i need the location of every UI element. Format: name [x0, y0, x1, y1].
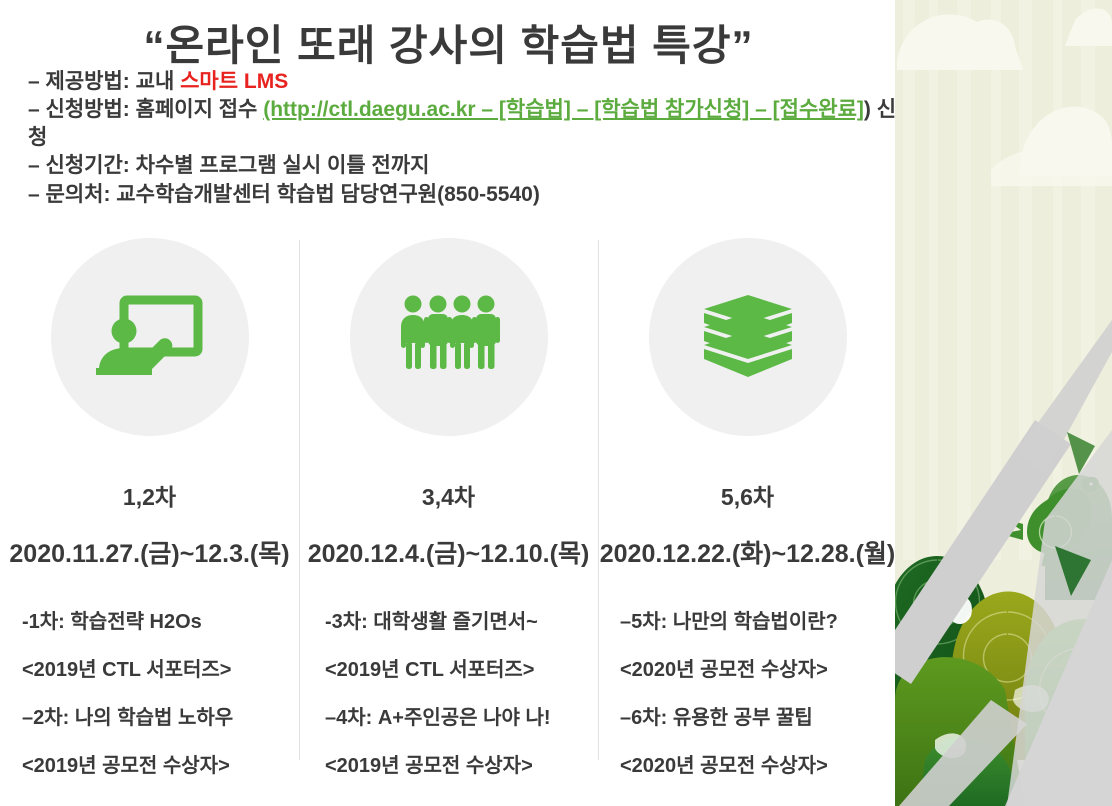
session-column-2: 3,4차 2020.12.4.(금)~12.10.(목) -3차: 대학생활 즐…: [299, 232, 598, 777]
session-title-1: 1,2차: [123, 478, 176, 512]
session-items-2: -3차: 대학생활 즐기면서~ <2019년 CTL 서포터즈> –4차: A+…: [299, 612, 598, 776]
artwork-svg: [895, 0, 1112, 806]
session-item: <2020년 공모전 수상자>: [620, 660, 897, 680]
session-date-1: 2020.11.27.(금)~12.3.(목): [9, 534, 289, 570]
icon-circle-3: [649, 238, 847, 436]
session-column-3: 5,6차 2020.12.22.(화)~12.28.(월) –5차: 나만의 학…: [598, 232, 897, 777]
session-item: -3차: 대학생활 즐기면서~: [325, 612, 598, 632]
page-title: “온라인 또래 강사의 학습법 특강”: [0, 12, 897, 73]
session-date-2: 2020.12.4.(금)~12.10.(목): [308, 534, 590, 570]
session-item: –5차: 나만의 학습법이란?: [620, 612, 897, 632]
info-line-period: – 신청기간: 차수별 프로그램 실시 이틀 전까지: [28, 152, 908, 180]
session-date-3: 2020.12.22.(화)~12.28.(월): [600, 534, 895, 570]
nature-bird-bushes-illustration: [895, 0, 1112, 806]
session-item: –4차: A+주인공은 나야 나!: [325, 708, 598, 728]
application-url-link[interactable]: (http://ctl.daegu.ac.kr – [학습법] – [학습법 참…: [263, 98, 864, 121]
info-method-highlight: 스마트 LMS: [180, 70, 288, 93]
session-item: <2019년 공모전 수상자>: [325, 756, 598, 776]
session-item: <2019년 CTL 서포터즈>: [22, 660, 299, 680]
teacher-presentation-icon: [96, 294, 204, 380]
group-of-people-icon: [396, 295, 502, 379]
session-columns: 1,2차 2020.11.27.(금)~12.3.(목) -1차: 학습전략 H…: [0, 232, 897, 777]
icon-circle-1: [51, 238, 249, 436]
info-apply-label: – 신청방법: 홈페이지 접수: [28, 98, 263, 121]
info-line-method: – 제공방법: 교내 스마트 LMS: [28, 68, 908, 96]
session-items-3: –5차: 나만의 학습법이란? <2020년 공모전 수상자> –6차: 유용한…: [598, 612, 897, 776]
session-column-1: 1,2차 2020.11.27.(금)~12.3.(목) -1차: 학습전략 H…: [0, 232, 299, 777]
session-item: <2019년 CTL 서포터즈>: [325, 660, 598, 680]
info-method-label: – 제공방법: 교내: [28, 70, 180, 93]
info-line-contact: – 문의처: 교수학습개발센터 학습법 담당연구원(850-5540): [28, 181, 908, 209]
info-block: – 제공방법: 교내 스마트 LMS – 신청방법: 홈페이지 접수 (http…: [28, 68, 908, 209]
session-title-3: 5,6차: [721, 478, 774, 512]
info-contact-text: – 문의처: 교수학습개발센터 학습법 담당연구원(850-5540): [28, 183, 540, 206]
info-period-text: – 신청기간: 차수별 프로그램 실시 이틀 전까지: [28, 154, 429, 177]
info-line-apply: – 신청방법: 홈페이지 접수 (http://ctl.daegu.ac.kr …: [28, 96, 908, 152]
session-item: –6차: 유용한 공부 꿀팁: [620, 708, 897, 728]
poster-canvas: “온라인 또래 강사의 학습법 특강” – 제공방법: 교내 스마트 LMS –…: [0, 0, 1112, 806]
session-item: -1차: 학습전략 H2Os: [22, 612, 299, 632]
session-item: –2차: 나의 학습법 노하우: [22, 708, 299, 728]
stack-of-books-icon: [698, 293, 798, 381]
session-item: <2020년 공모전 수상자>: [620, 756, 897, 776]
session-title-2: 3,4차: [422, 478, 475, 512]
session-items-1: -1차: 학습전략 H2Os <2019년 CTL 서포터즈> –2차: 나의 …: [0, 612, 299, 776]
icon-circle-2: [350, 238, 548, 436]
session-item: <2019년 공모전 수상자>: [22, 756, 299, 776]
poster-content: “온라인 또래 강사의 학습법 특강” – 제공방법: 교내 스마트 LMS –…: [0, 0, 897, 806]
